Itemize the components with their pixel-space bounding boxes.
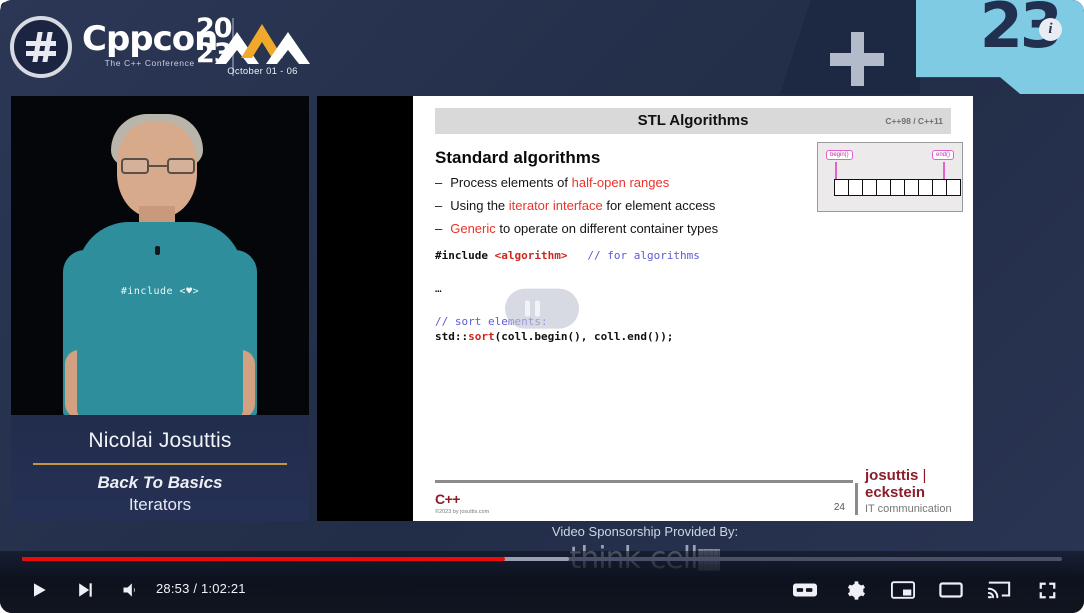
- begin-pointer: [835, 162, 837, 179]
- code-line-include: #include <algorithm> // for algorithms: [435, 248, 700, 263]
- slide-footer-company: josuttis | eckstein: [865, 467, 973, 501]
- slide-heading: Standard algorithms: [435, 148, 600, 168]
- bullet-text-post: to operate on different container types: [496, 221, 718, 236]
- speaker-figure: #include <♥>: [55, 118, 265, 418]
- presentation-slide: STL Algorithms C++98 / C++11 Standard al…: [413, 96, 973, 521]
- speaker-shirt-text: #include <♥>: [55, 286, 265, 297]
- cast-button[interactable]: [982, 575, 1016, 605]
- bullet-dash: –: [435, 195, 442, 216]
- cppcon-hash-logo-icon: [10, 16, 72, 78]
- fullscreen-button[interactable]: [1030, 575, 1064, 605]
- slide-letterbox: STL Algorithms C++98 / C++11 Standard al…: [317, 96, 973, 521]
- code-line-sort: std::sort(coll.begin(), coll.end());: [435, 329, 700, 344]
- progress-bar: [22, 557, 505, 561]
- code-sort-prefix: std::: [435, 330, 468, 343]
- slide-footer-copyright: ©2023 by josuttis.com: [435, 509, 489, 515]
- bullet-item: – Process elements of half-open ranges: [435, 172, 825, 193]
- speaker-name: Nicolai Josuttis: [11, 429, 309, 453]
- end-pointer: [943, 162, 945, 179]
- play-button[interactable]: [22, 575, 56, 605]
- settings-gear-icon[interactable]: [838, 575, 872, 605]
- video-player[interactable]: Cppcon The C++ Conference 20 23 October …: [0, 0, 1084, 613]
- slide-footer-rule: [435, 480, 853, 483]
- bullet-text-post: for element access: [603, 198, 716, 213]
- miniplayer-button[interactable]: [886, 575, 920, 605]
- end-callout: end(): [932, 150, 954, 160]
- mountain-logo-icon: [215, 18, 310, 64]
- bullet-text-pre: Using the: [450, 198, 509, 213]
- talk-series: Back To Basics: [11, 473, 309, 493]
- slide-footer-divider: [855, 483, 858, 515]
- begin-callout: begin(): [826, 150, 853, 160]
- conference-dates: October 01 - 06: [215, 66, 310, 77]
- sponsorship-label: Video Sponsorship Provided By:: [317, 524, 973, 539]
- bullet-dash: –: [435, 172, 442, 193]
- video-stage[interactable]: Cppcon The C++ Conference 20 23 October …: [0, 0, 1084, 613]
- progress-scrubber[interactable]: [22, 557, 1062, 561]
- time-display: 28:53 / 1:02:21: [156, 581, 246, 596]
- captions-icon[interactable]: [788, 575, 822, 605]
- nameplate-rule: [33, 463, 287, 465]
- slide-footer-tagline: IT communication: [865, 503, 952, 515]
- code-include-directive: #include: [435, 249, 495, 262]
- pause-overlay-icon: [505, 288, 579, 328]
- slide-bullet-list: – Process elements of half-open ranges –…: [435, 172, 825, 241]
- info-icon[interactable]: i: [1039, 18, 1062, 41]
- theater-mode-button[interactable]: [934, 575, 968, 605]
- code-sort-args: (coll.begin(), coll.end());: [495, 330, 674, 343]
- player-control-bar[interactable]: 28:53 / 1:02:21: [0, 551, 1084, 613]
- next-video-button[interactable]: [68, 575, 102, 605]
- bullet-text-highlight: Generic: [450, 221, 496, 236]
- bullet-text-pre: Process elements of: [450, 175, 571, 190]
- code-include-header: <algorithm>: [495, 249, 568, 262]
- bullet-item: – Using the iterator interface for eleme…: [435, 195, 825, 216]
- slide-title: STL Algorithms: [435, 112, 951, 129]
- slide-footer-cpp: C++: [435, 491, 460, 507]
- bullet-dash: –: [435, 218, 442, 239]
- code-sort-keyword: sort: [468, 330, 495, 343]
- iterator-range-diagram: begin() end(): [817, 142, 963, 212]
- bullet-text-highlight: half-open ranges: [572, 175, 670, 190]
- company-separator: |: [923, 467, 927, 484]
- plus-icon: [830, 32, 884, 86]
- company-b: eckstein: [865, 484, 925, 501]
- company-a: josuttis: [865, 467, 918, 484]
- container-cells: [834, 179, 961, 196]
- talk-topic: Iterators: [11, 495, 309, 515]
- bullet-text-highlight: iterator interface: [509, 198, 603, 213]
- conference-header-banner: Cppcon The C++ Conference 20 23 October …: [0, 0, 1084, 94]
- slide-cpp-version: C++98 / C++11: [885, 116, 943, 126]
- bullet-item: – Generic to operate on different contai…: [435, 218, 825, 239]
- speaker-nameplate: Nicolai Josuttis Back To Basics Iterator…: [11, 415, 309, 521]
- slide-page-number: 24: [793, 502, 845, 513]
- speaker-camera-feed: #include <♥> Nicolai Josuttis Back To Ba…: [11, 96, 309, 521]
- code-include-comment: // for algorithms: [587, 249, 700, 262]
- mute-button[interactable]: [114, 575, 148, 605]
